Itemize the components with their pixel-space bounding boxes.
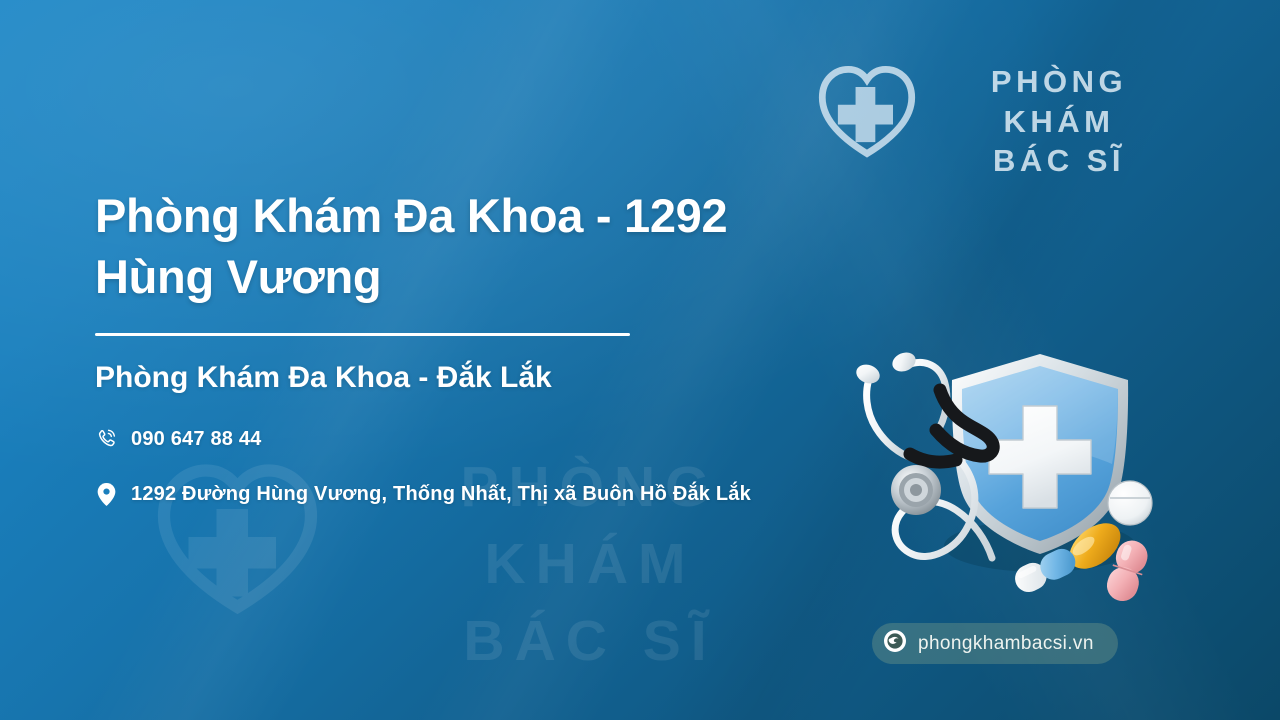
brand-logo-line-2: BÁC SĨ (933, 141, 1185, 181)
phone-row[interactable]: 090 647 88 44 (95, 425, 815, 453)
location-pin-icon (95, 480, 117, 506)
website-badge[interactable]: phongkhambacsi.vn (872, 623, 1118, 664)
brand-logo-line-1: PHÒNG KHÁM (933, 62, 1185, 141)
content-block: Phòng Khám Đa Khoa - 1292 Hùng Vương Phò… (95, 185, 815, 508)
page-title: Phòng Khám Đa Khoa - 1292 Hùng Vương (95, 185, 815, 307)
page-subtitle: Phòng Khám Đa Khoa - Đắk Lắk (95, 358, 815, 397)
brand-logo-text: PHÒNG KHÁM BÁC SĨ (933, 62, 1185, 181)
medical-illustration (840, 318, 1180, 618)
banner: PHÒNG KHÁM BÁC SĨ PHÒNG KHÁM BÁC SĨ Phòn… (0, 0, 1280, 720)
brand-logo: PHÒNG KHÁM BÁC SĨ (815, 58, 1185, 170)
address-row[interactable]: 1292 Đường Hùng Vương, Thống Nhất, Thị x… (95, 480, 815, 508)
website-url: phongkhambacsi.vn (918, 633, 1094, 655)
phone-number: 090 647 88 44 (131, 425, 262, 453)
phone-icon (95, 425, 117, 449)
title-divider (95, 333, 630, 336)
watermark-line-2: BÁC SĨ (345, 603, 835, 680)
heart-cross-icon (815, 60, 919, 169)
globe-icon (883, 629, 907, 658)
address-text: 1292 Đường Hùng Vương, Thống Nhất, Thị x… (131, 480, 751, 508)
